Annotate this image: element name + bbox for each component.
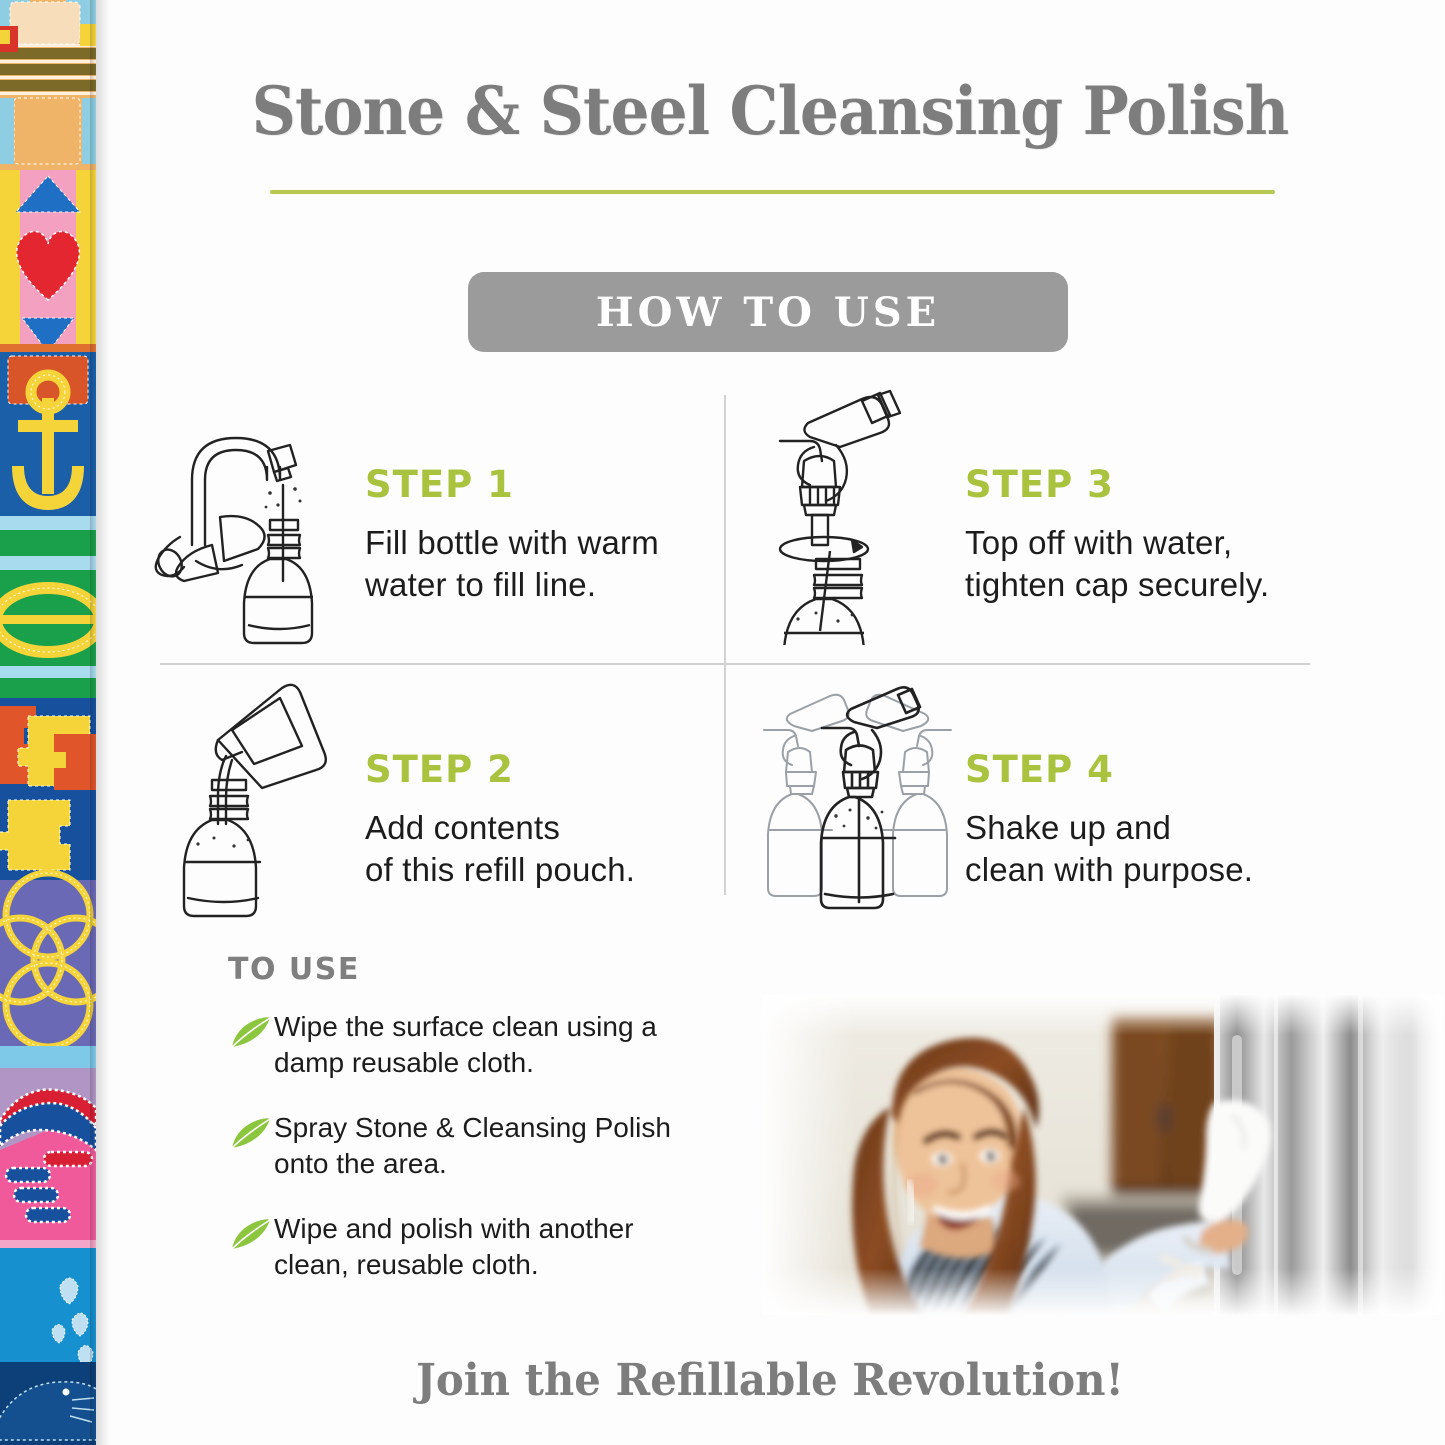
list-item-text: Spray Stone & Cleansing Polish onto the … [274, 1110, 671, 1183]
quilt-drop-shadow [96, 0, 110, 1445]
lifestyle-photo [762, 995, 1442, 1315]
leaf-icon [228, 1215, 274, 1255]
shaking-spray-bottle-icon [750, 670, 965, 930]
step-4-cell: STEP 4 Shake up and clean with purpose. [750, 670, 1320, 940]
step-2-body: Add contents of this refill pouch. [365, 807, 635, 891]
page-title: Stone & Steel Cleansing Polish [156, 72, 1384, 154]
how-to-use-label: HOW TO USE [596, 289, 940, 336]
leaf-icon [228, 1013, 274, 1053]
steps-grid: STEP 1 Fill bottle with warm water to fi… [150, 385, 1310, 905]
step-3-text: STEP 3 Top off with water, tighten cap s… [965, 385, 1269, 606]
spray-trigger-attaching-icon [750, 385, 965, 645]
title-underline-rule [270, 190, 1275, 194]
list-item-text: Wipe the surface clean using a damp reus… [274, 1009, 657, 1082]
list-item: Wipe the surface clean using a damp reus… [228, 1009, 748, 1082]
grid-horizontal-divider [160, 663, 1310, 665]
list-item: Spray Stone & Cleansing Polish onto the … [228, 1110, 748, 1183]
quilt-artwork [0, 0, 96, 1445]
grid-vertical-divider [724, 395, 726, 895]
step-1-text: STEP 1 Fill bottle with warm water to fi… [365, 385, 659, 606]
pouch-pouring-into-bottle-icon [150, 670, 365, 930]
step-2-text: STEP 2 Add contents of this refill pouch… [365, 670, 635, 891]
step-3-label: STEP 3 [965, 463, 1269, 506]
list-item: Wipe and polish with another clean, reus… [228, 1211, 748, 1284]
step-3-body: Top off with water, tighten cap securely… [965, 522, 1269, 606]
step-4-label: STEP 4 [965, 748, 1253, 791]
woman-cleaning-fridge-photo [762, 995, 1442, 1315]
step-2-label: STEP 2 [365, 748, 635, 791]
step-4-body: Shake up and clean with purpose. [965, 807, 1253, 891]
step-1-body: Fill bottle with warm water to fill line… [365, 522, 659, 606]
to-use-section: TO USE Wipe the surface clean using a da… [228, 952, 748, 1311]
step-4-text: STEP 4 Shake up and clean with purpose. [965, 670, 1253, 891]
patchwork-quilt-border [0, 0, 96, 1445]
to-use-heading: TO USE [228, 952, 748, 987]
faucet-filling-bottle-icon [150, 385, 365, 645]
how-to-use-banner: HOW TO USE [468, 272, 1068, 352]
list-item-text: Wipe and polish with another clean, reus… [274, 1211, 634, 1284]
step-2-cell: STEP 2 Add contents of this refill pouch… [150, 670, 720, 940]
step-3-cell: STEP 3 Top off with water, tighten cap s… [750, 385, 1320, 655]
step-1-label: STEP 1 [365, 463, 659, 506]
product-instruction-graphic: Stone & Steel Cleansing Polish HOW TO US… [0, 0, 1445, 1445]
leaf-icon [228, 1114, 274, 1154]
step-1-cell: STEP 1 Fill bottle with warm water to fi… [150, 385, 720, 655]
footer-tagline: Join the Refillable Revolution! [143, 1355, 1397, 1406]
